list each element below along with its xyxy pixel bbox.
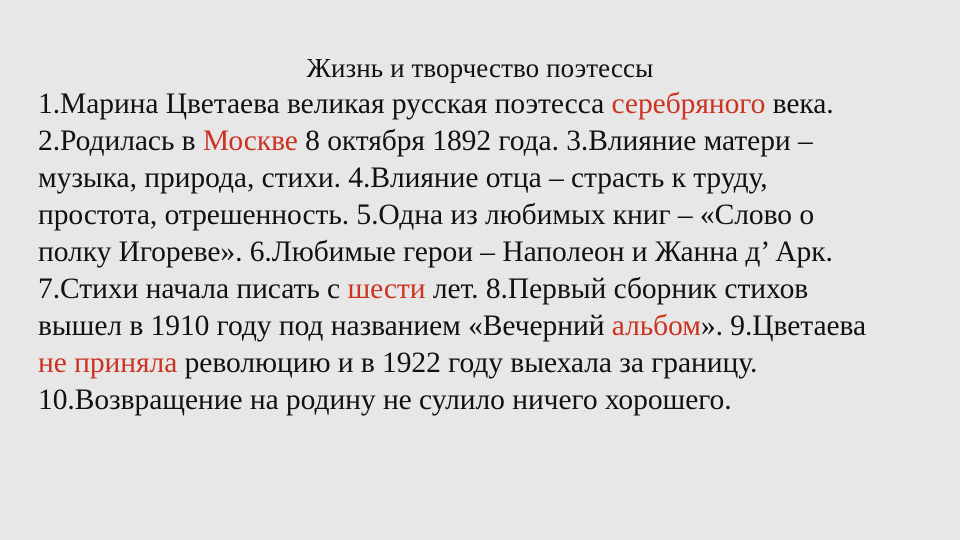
plain-text: 1.Марина Цветаева великая русская поэтес… <box>38 88 612 120</box>
highlighted-text: альбом <box>612 310 701 342</box>
page-title: Жизнь и творчество поэтессы <box>0 50 960 86</box>
text-line: вышел в 1910 году под названием «Вечерни… <box>38 308 934 345</box>
plain-text: полку Игореве». 6.Любимые герои – Наполе… <box>38 236 833 268</box>
text-line: 1.Марина Цветаева великая русская поэтес… <box>38 86 934 123</box>
plain-text: музыка, природа, стихи. 4.Влияние отца –… <box>38 162 768 194</box>
plain-text: революцию и в 1922 году выехала за грани… <box>177 347 757 379</box>
presentation-slide: Жизнь и творчество поэтессы 1.Марина Цве… <box>0 0 960 540</box>
text-line: не приняла революцию и в 1922 году выеха… <box>38 345 934 382</box>
highlighted-text: не приняла <box>38 347 177 379</box>
plain-text: простота, отрешенность. 5.Одна из любимы… <box>38 199 814 231</box>
plain-text: 7.Стихи начала писать с <box>38 273 347 305</box>
text-line: полку Игореве». 6.Любимые герои – Наполе… <box>38 234 934 271</box>
plain-text: 2.Родилась в <box>38 125 203 157</box>
highlighted-text: шести <box>347 273 425 305</box>
text-line: 7.Стихи начала писать с шести лет. 8.Пер… <box>38 271 934 308</box>
highlighted-text: Москве <box>203 125 298 157</box>
plain-text: лет. 8.Первый сборник стихов <box>426 273 809 305</box>
highlighted-text: серебряного <box>612 88 766 120</box>
plain-text: 10.Возвращение на родину не сулило ничег… <box>38 384 732 416</box>
slide-body-text: 1.Марина Цветаева великая русская поэтес… <box>38 86 934 419</box>
text-line: 2.Родилась в Москве 8 октября 1892 года.… <box>38 123 934 160</box>
plain-text: ». 9.Цветаева <box>701 310 866 342</box>
plain-text: 8 октября 1892 года. 3.Влияние матери – <box>298 125 820 157</box>
text-line: музыка, природа, стихи. 4.Влияние отца –… <box>38 160 934 197</box>
plain-text: века. <box>765 88 833 120</box>
text-line: простота, отрешенность. 5.Одна из любимы… <box>38 197 934 234</box>
plain-text: вышел в 1910 году под названием «Вечерни… <box>38 310 612 342</box>
text-line: 10.Возвращение на родину не сулило ничег… <box>38 382 934 419</box>
